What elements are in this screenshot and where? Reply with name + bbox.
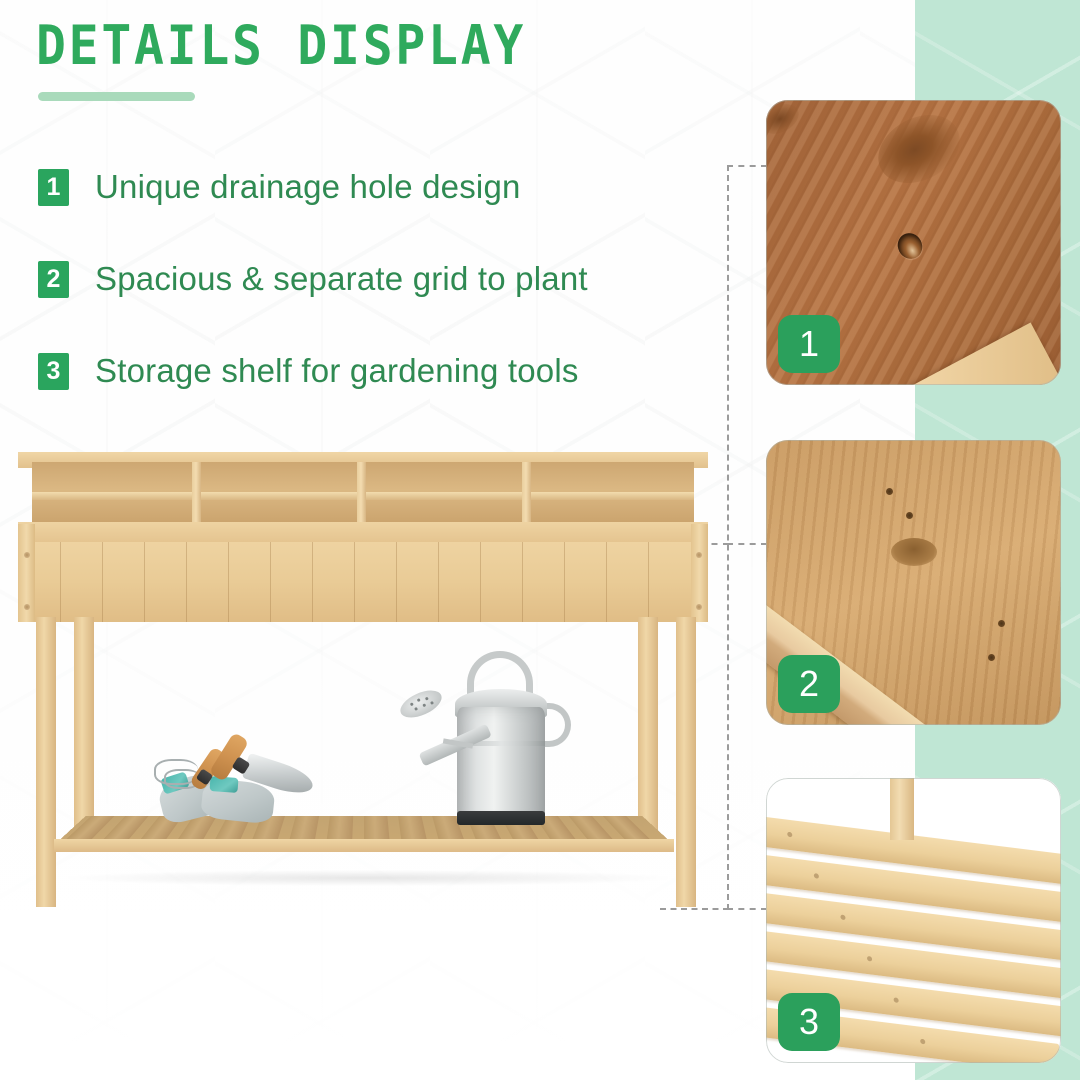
- feature-number-badge-2: 2: [38, 261, 69, 298]
- planter-grid-compartments: [32, 462, 694, 524]
- detail-panel-2[interactable]: 2: [766, 440, 1061, 725]
- feature-number-badge-1: 1: [38, 169, 69, 206]
- detail-panel-badge-2: 2: [778, 655, 840, 713]
- planter-box: [18, 452, 708, 622]
- storage-shelf: [54, 787, 674, 877]
- page-title: DETAILS DISPLAY: [36, 14, 526, 77]
- infographic-canvas: DETAILS DISPLAY 1 Unique drainage hole d…: [0, 0, 1080, 1080]
- title-underline-accent: [38, 92, 195, 101]
- planter-front-panel: [18, 542, 708, 622]
- leg-left-front: [36, 617, 56, 907]
- feature-item-1: 1 Unique drainage hole design: [38, 160, 718, 214]
- leg-right-front: [676, 617, 696, 907]
- feature-label-2: Spacious & separate grid to plant: [95, 260, 588, 298]
- watering-can: [413, 645, 573, 835]
- feature-number-badge-3: 3: [38, 353, 69, 390]
- connector-line-to-panel-3: [727, 908, 767, 910]
- detail-panel-badge-1: 1: [778, 315, 840, 373]
- feature-label-3: Storage shelf for gardening tools: [95, 352, 579, 390]
- connector-line-to-panel-2: [727, 543, 767, 545]
- watering-can-rose: [396, 685, 445, 723]
- feature-item-2: 2 Spacious & separate grid to plant: [38, 252, 718, 306]
- detail-panel-1[interactable]: 1: [766, 100, 1061, 385]
- feature-item-3: 3 Storage shelf for gardening tools: [38, 344, 718, 398]
- detail-panel-badge-3: 3: [778, 993, 840, 1051]
- detail-panel-3[interactable]: 3: [766, 778, 1061, 1063]
- gardening-tools-group: [158, 737, 338, 827]
- connector-line-vertical: [727, 165, 729, 910]
- connector-line-to-panel-1: [727, 165, 767, 167]
- product-image-raised-garden-bed: [8, 452, 718, 932]
- feature-label-1: Unique drainage hole design: [95, 168, 521, 206]
- feature-list: 1 Unique drainage hole design 2 Spacious…: [38, 160, 718, 436]
